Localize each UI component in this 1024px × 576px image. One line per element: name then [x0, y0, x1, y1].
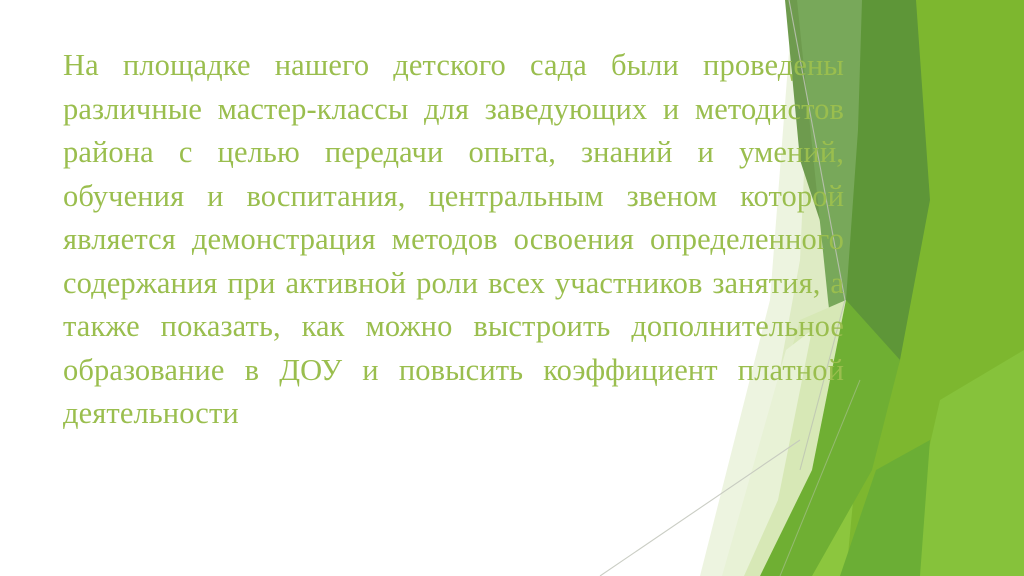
bright-green-right-panel [846, 0, 1024, 576]
deep-green-column [846, 0, 930, 470]
slide-body-text: На площадке нашего детского сада были пр… [63, 44, 844, 436]
deep-accent-bottom [840, 440, 930, 576]
slide-canvas: На площадке нашего детского сада были пр… [0, 0, 1024, 576]
hairline-diagonal-lower [600, 440, 800, 576]
bright-accent-bottom-right [900, 350, 1024, 576]
